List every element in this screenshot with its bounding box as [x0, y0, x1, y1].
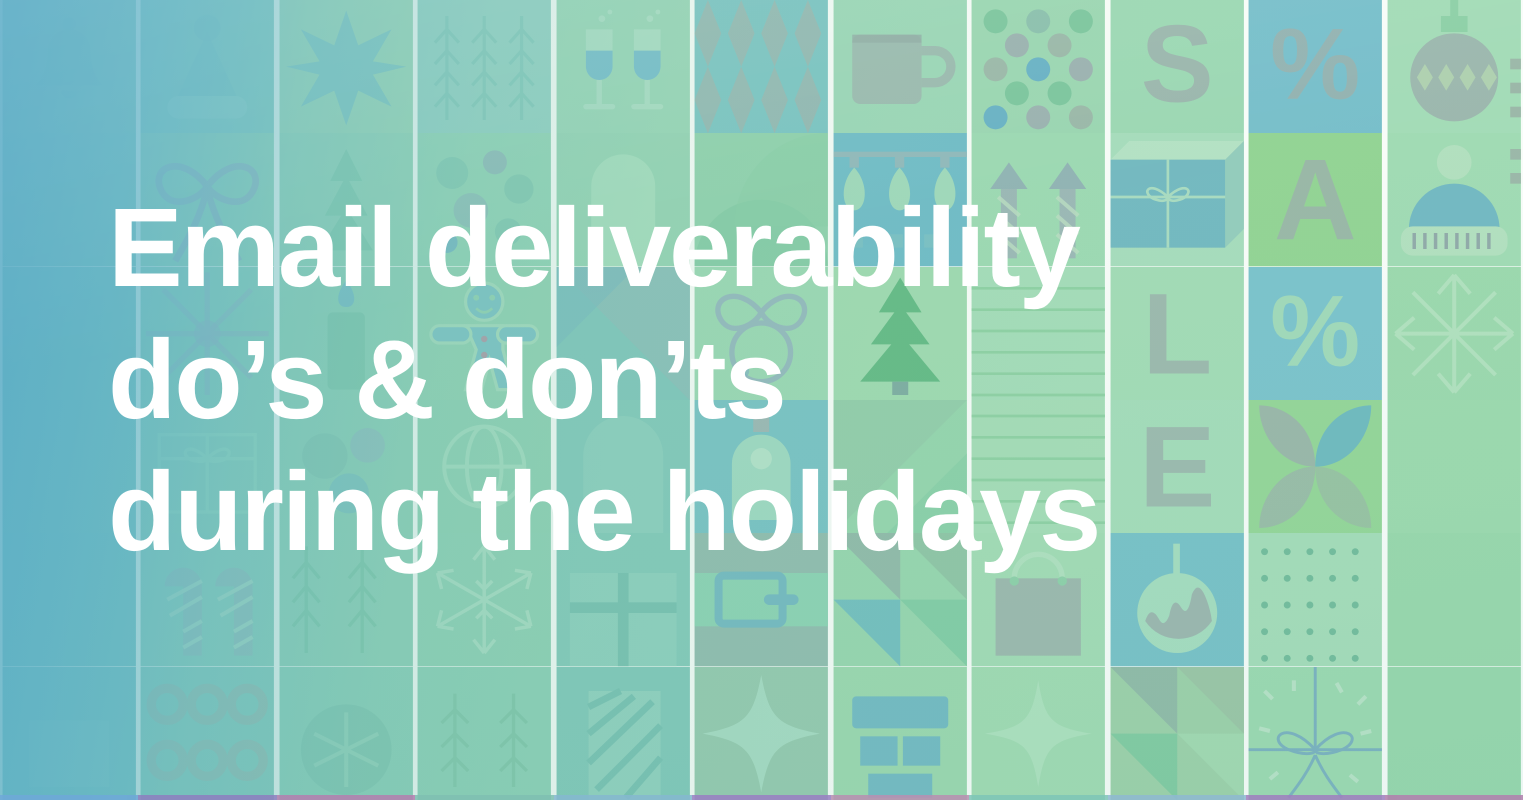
svg-text:%: %	[1270, 8, 1360, 121]
headline-line-3: during the holidays	[108, 446, 1308, 578]
tile-striped-gift	[554, 667, 692, 800]
svg-text:S: S	[1140, 3, 1213, 125]
tile-ornament-ball	[1385, 0, 1523, 133]
tile-letter-s: S	[1108, 0, 1246, 133]
page-title: Email deliverability do’s & don’ts durin…	[108, 182, 1308, 578]
tile-champagne-glasses	[554, 0, 692, 133]
tile-coffee-mug	[831, 0, 969, 133]
tile-rings-grid	[138, 667, 276, 800]
tile-blank-teal-e	[0, 667, 138, 800]
tile-polka-dots	[969, 0, 1107, 133]
tile-triangle-diag	[1108, 667, 1246, 800]
headline-line-2: do’s & don’ts	[108, 314, 1308, 446]
tile-percent-sign: %	[1246, 0, 1384, 133]
tile-blank-mint-a	[1385, 400, 1523, 533]
tile-gift-ribbon	[1246, 667, 1384, 800]
tile-pine-leaves	[415, 667, 553, 800]
tile-eight-point-star	[277, 0, 415, 133]
tile-snowflake	[1385, 267, 1523, 400]
tile-harlequin-diamonds	[692, 0, 830, 133]
tile-winter-hat	[1385, 133, 1523, 266]
tile-gift-stack	[831, 667, 969, 800]
tile-bell	[0, 0, 138, 133]
tile-blank-mint-c	[1385, 667, 1523, 800]
headline-line-1: Email deliverability	[108, 182, 1308, 314]
tile-santa-hat	[138, 0, 276, 133]
tile-star-four	[692, 667, 830, 800]
tile-pine-sprigs	[415, 0, 553, 133]
tile-blank-mint-b	[1385, 533, 1523, 666]
holiday-email-banner: S % A L % E	[0, 0, 1523, 800]
tile-sparkle	[969, 667, 1107, 800]
tile-bauble-large	[277, 667, 415, 800]
